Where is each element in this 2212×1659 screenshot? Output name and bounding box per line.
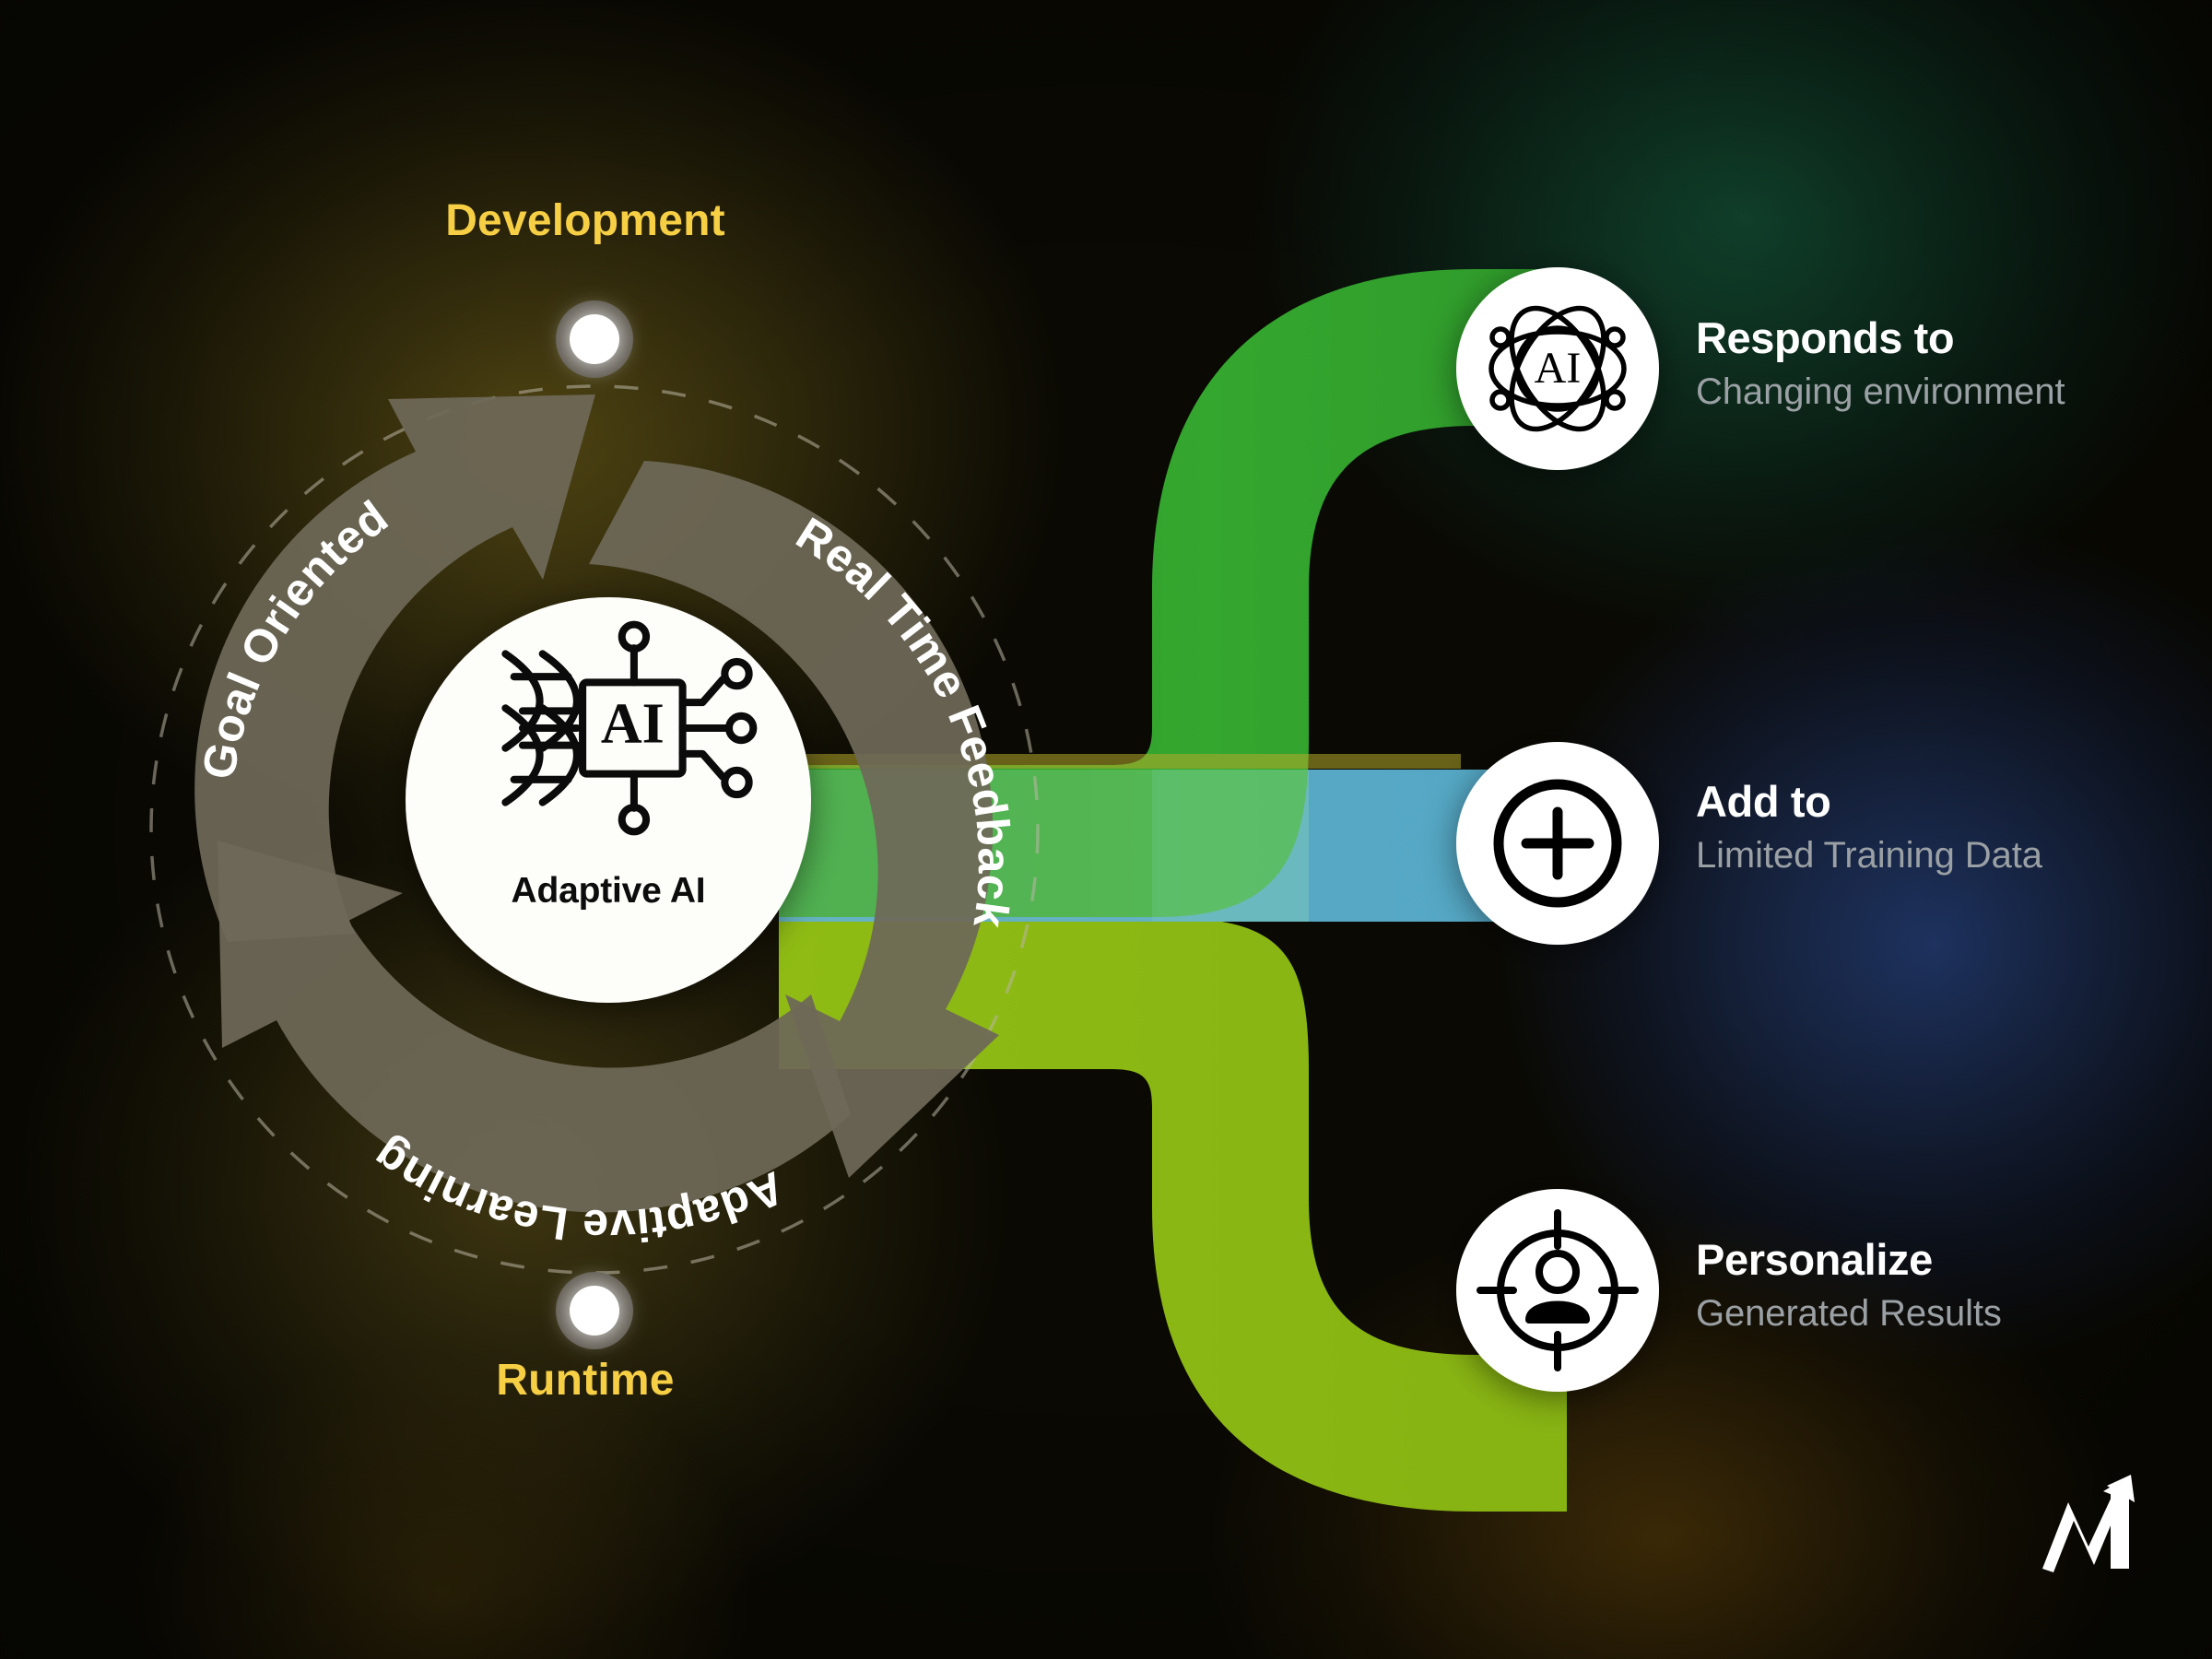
center-circle <box>406 597 811 1003</box>
outcome-text-add-to: Add to Limited Training Data <box>1696 779 2042 877</box>
phase-label-development: Development <box>0 195 1171 246</box>
phase-marker-development-core <box>570 314 619 364</box>
svg-text:AI: AI <box>1535 344 1582 393</box>
outcome-subtitle-0: Changing environment <box>1696 371 2065 413</box>
outcome-text-responds-to: Responds to Changing environment <box>1696 315 2065 413</box>
svg-text:AI: AI <box>601 693 665 756</box>
phase-label-runtime: Runtime <box>0 1355 1171 1406</box>
outcome-node-add-to[interactable] <box>1456 742 1659 945</box>
outcome-title-1: Add to <box>1696 779 2042 824</box>
outcome-node-responds-to[interactable]: AI <box>1456 267 1659 470</box>
outcome-title-0: Responds to <box>1696 315 2065 360</box>
center-node-caption: Adaptive AI <box>396 871 820 912</box>
m-arrow-growth-logo <box>2042 1475 2135 1572</box>
outcome-text-personalize: Personalize Generated Results <box>1696 1237 2002 1335</box>
outcome-title-2: Personalize <box>1696 1237 2002 1282</box>
outcome-subtitle-1: Limited Training Data <box>1696 835 2042 877</box>
phase-marker-runtime-core <box>570 1286 619 1335</box>
center-node[interactable]: AI <box>406 597 811 1003</box>
outcome-subtitle-2: Generated Results <box>1696 1293 2002 1335</box>
outcome-node-personalize[interactable] <box>1456 1189 1659 1392</box>
